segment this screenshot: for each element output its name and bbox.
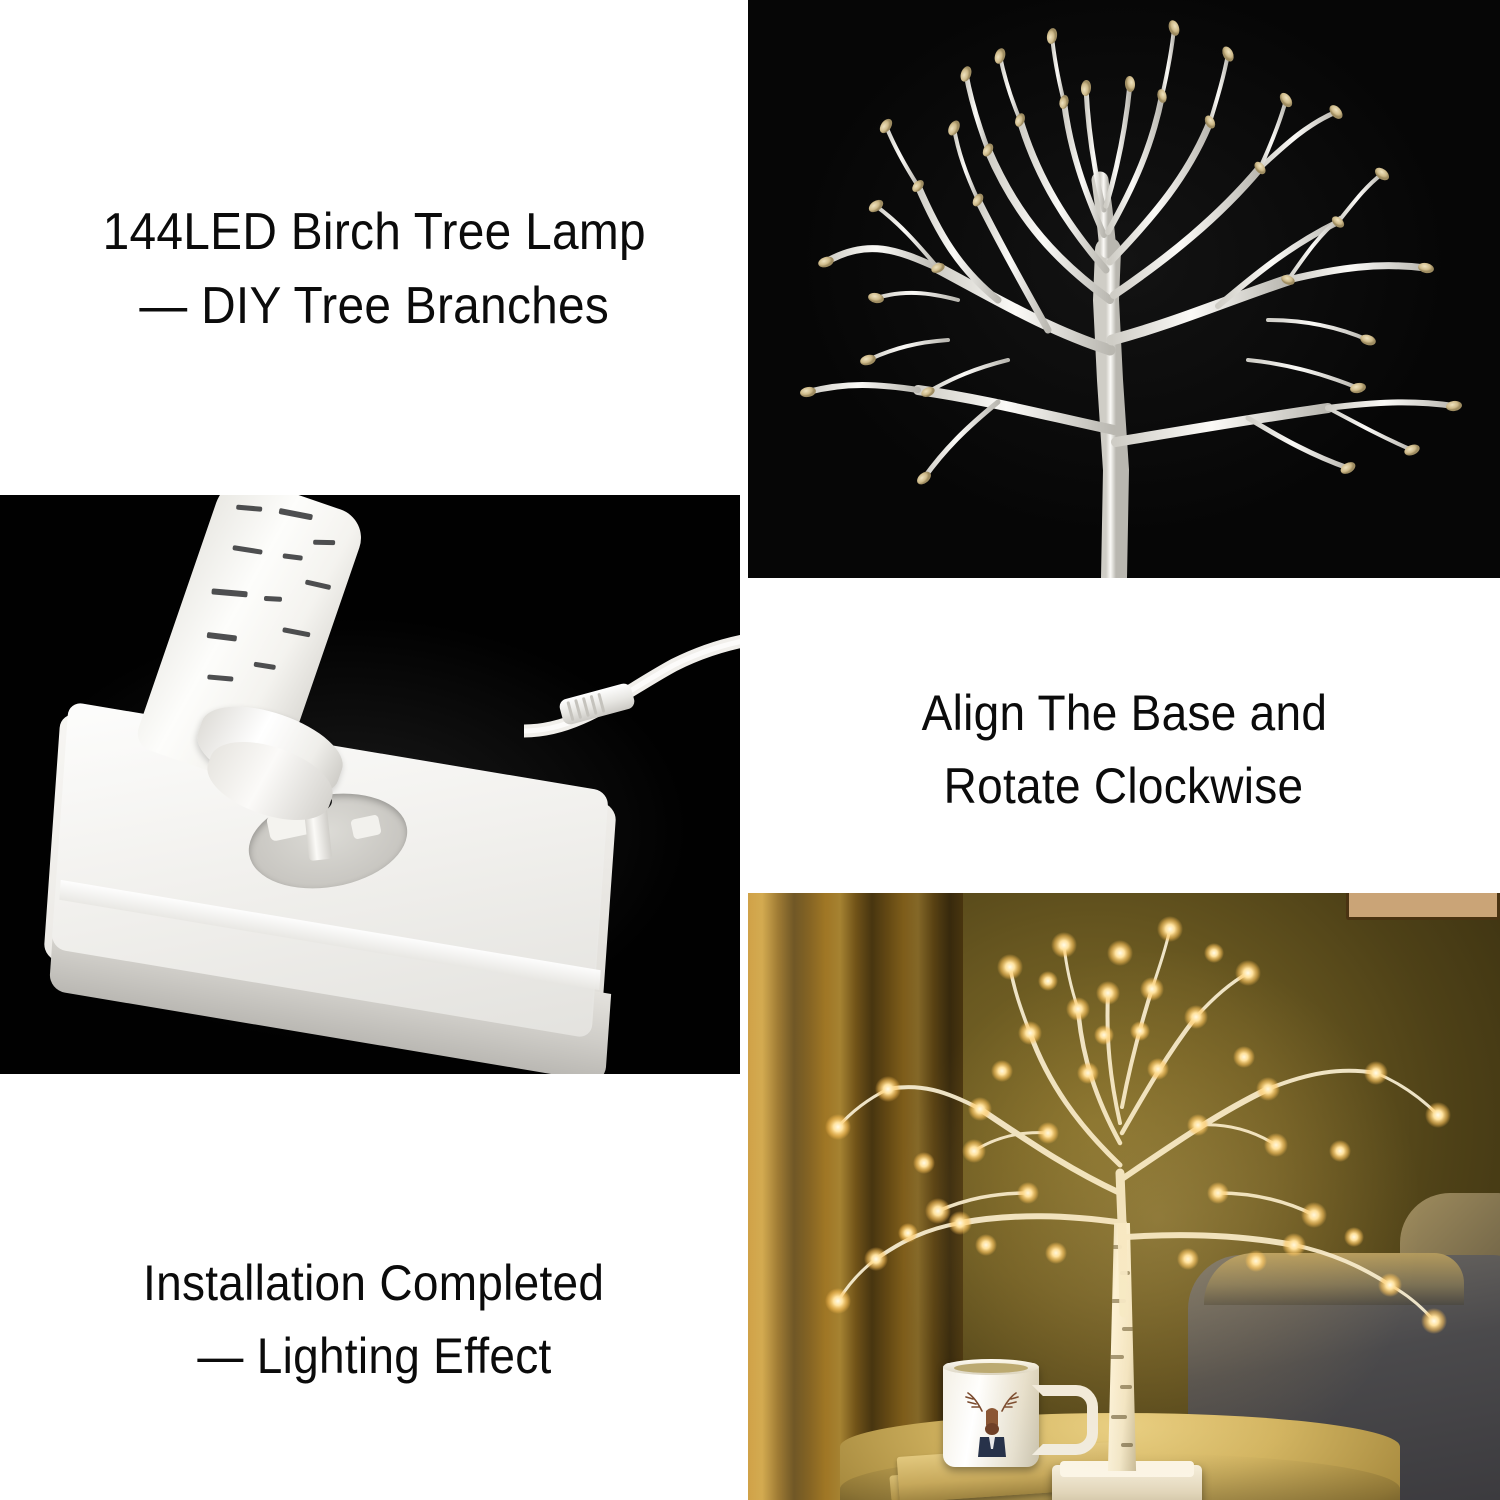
effect-line-1: Installation Completed [143,1247,604,1320]
birch-branches-graphic [748,0,1500,578]
lit-tree-room-photo [748,893,1500,1500]
align-caption: Align The Base and Rotate Clockwise [748,630,1500,870]
dc-power-cable [524,635,748,755]
unlit-tree-photo [748,0,1500,578]
align-line-1: Align The Base and [921,677,1327,750]
product-collage: 144LED Birch Tree Lamp — DIY Tree Branch… [0,0,1500,1500]
headline-caption: 144LED Birch Tree Lamp — DIY Tree Branch… [0,120,748,420]
headline-line-1: 144LED Birch Tree Lamp [102,196,645,270]
align-line-2: Rotate Clockwise [944,750,1304,823]
lit-branches-graphic [748,893,1500,1500]
headline-line-2: — DIY Tree Branches [139,270,609,344]
effect-line-2: — Lighting Effect [197,1320,551,1393]
panel-divider-vertical [740,0,748,1500]
effect-caption: Installation Completed — Lighting Effect [0,1180,748,1460]
base-installation-photo: 1 STEADY ON 2 TIMER 3 OFF [0,495,748,1074]
